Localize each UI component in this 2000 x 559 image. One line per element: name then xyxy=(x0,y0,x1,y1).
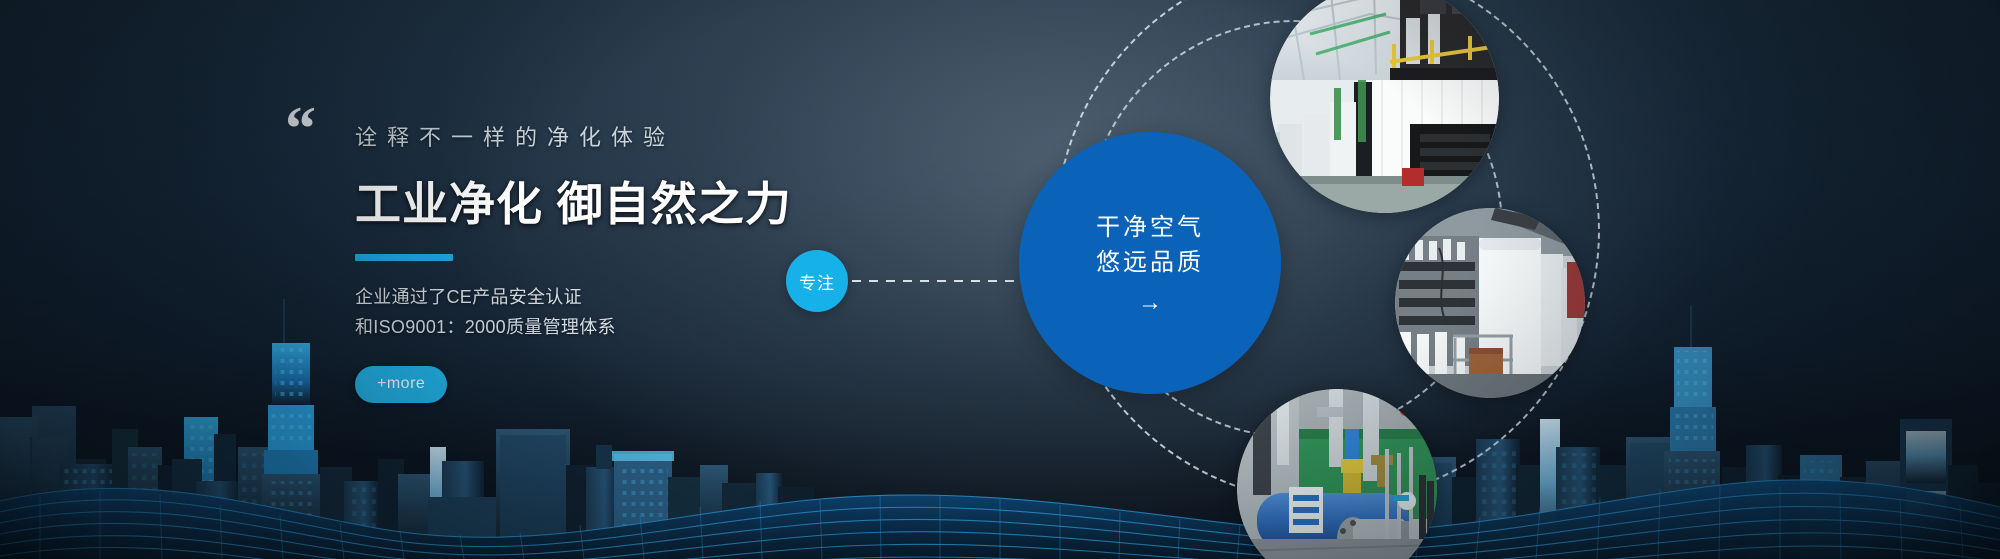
focus-badge-label: 专注 xyxy=(799,269,835,294)
hero-description-line-2: 和ISO9001：2000质量管理体系 xyxy=(355,313,915,343)
city-skyline-icon xyxy=(0,269,2000,559)
terrain-fill xyxy=(0,480,2000,559)
photo-textile-machinery-image xyxy=(1395,208,1585,398)
blue-circle-line-1: 干净空气 xyxy=(1096,211,1204,246)
terrain-grid xyxy=(0,480,2000,559)
terrain-grid-vertical xyxy=(40,485,1963,559)
photo-textile-machinery[interactable] xyxy=(1395,208,1585,398)
quote-mark-icon: “ xyxy=(285,98,313,160)
more-button[interactable]: +more xyxy=(355,366,447,403)
hero-tagline: 诠释不一样的净化体验 xyxy=(355,120,915,152)
blue-circle-line-2: 悠远品质 xyxy=(1096,246,1204,281)
hero-banner: “ 诠释不一样的净化体验 工业净化 御自然之力 企业通过了CE产品安全认证 和I… xyxy=(0,0,2000,559)
accent-rule xyxy=(355,254,453,261)
dashed-connector-line xyxy=(852,280,1022,282)
main-blue-circle[interactable]: 干净空气 悠远品质 → xyxy=(1019,132,1281,394)
cityscape-decoration xyxy=(0,269,2000,559)
focus-badge[interactable]: 专注 xyxy=(786,250,848,312)
hero-headline: 工业净化 御自然之力 xyxy=(355,168,915,234)
arrow-right-icon: → xyxy=(1138,291,1162,315)
